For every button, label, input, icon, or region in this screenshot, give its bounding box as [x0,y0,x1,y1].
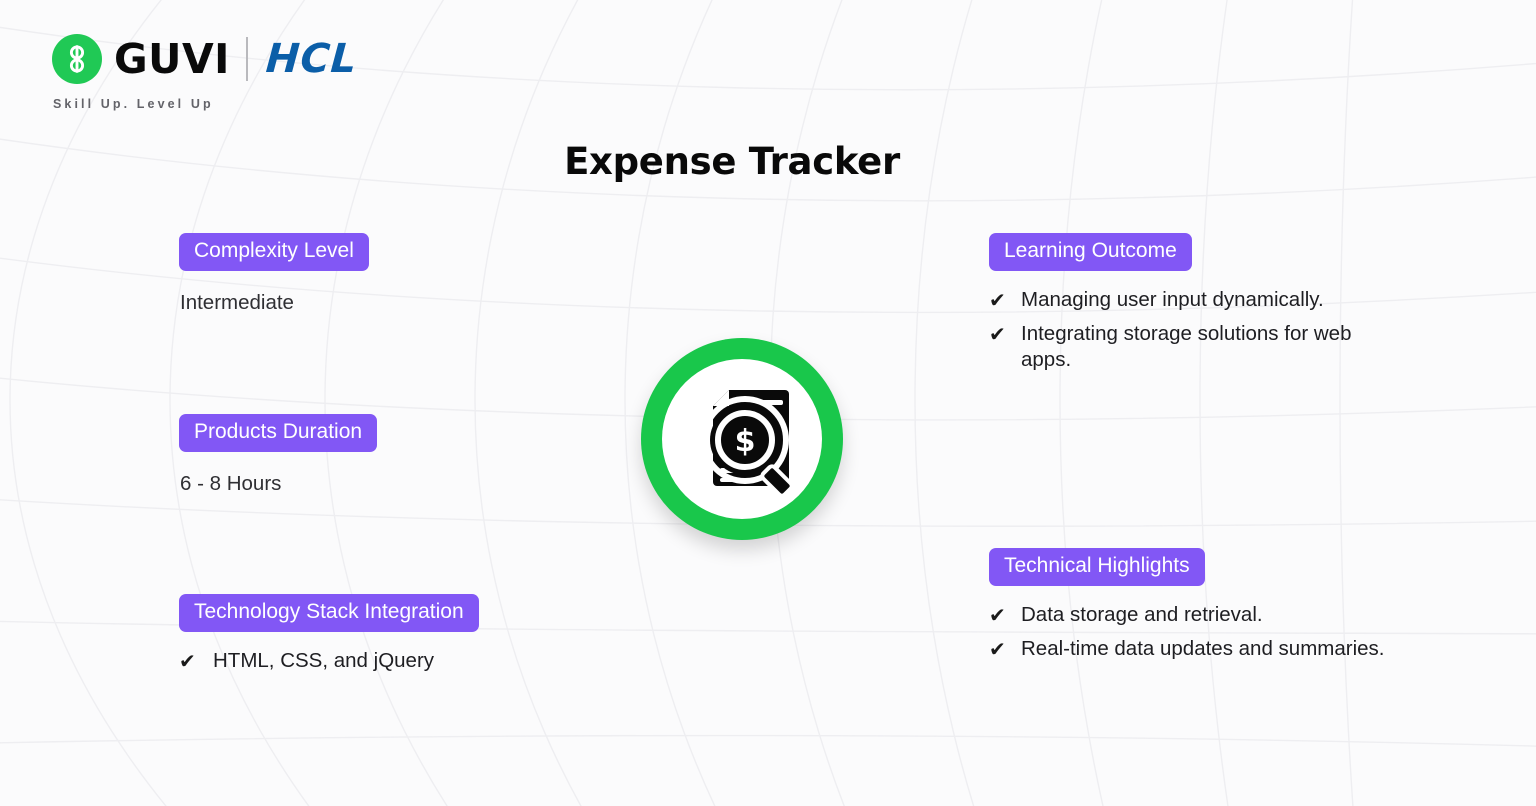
guvi-g-logo-icon [52,34,102,84]
logo-divider [246,37,248,81]
expense-document-magnifier-dollar-icon: $ [641,338,843,540]
list-item: ✔ Data storage and retrieval. [989,602,1419,629]
technology-stack-list: ✔ HTML, CSS, and jQuery [179,648,609,675]
learning-outcome-list: ✔ Managing user input dynamically. ✔ Int… [989,287,1419,374]
list-item-label: Integrating storage solutions for web ap… [1021,321,1386,374]
left-column: Complexity Level Intermediate Products D… [179,233,609,682]
brand-logo-row: GUVI HCL [52,30,357,88]
list-item-label: Managing user input dynamically. [1021,287,1324,314]
spacer [989,381,1419,548]
technical-highlights-section: Technical Highlights ✔ Data storage and … [989,548,1419,662]
list-item-label: Data storage and retrieval. [1021,602,1263,629]
list-item-label: Real-time data updates and summaries. [1021,636,1385,663]
hcl-wordmark: HCL [265,39,359,79]
list-item: ✔ HTML, CSS, and jQuery [179,648,609,675]
check-icon: ✔ [989,602,1011,628]
technology-stack-section: Technology Stack Integration ✔ HTML, CSS… [179,594,609,675]
brand-logo-block: GUVI HCL Skill Up. Level Up [52,30,357,111]
check-icon: ✔ [989,636,1011,662]
right-column: Learning Outcome ✔ Managing user input d… [989,233,1419,669]
technical-highlights-badge: Technical Highlights [989,548,1205,586]
list-item-label: HTML, CSS, and jQuery [213,648,434,675]
spacer [179,315,609,414]
check-icon: ✔ [989,287,1011,313]
ring-inner-circle: $ [662,359,822,519]
list-item: ✔ Integrating storage solutions for web … [989,321,1419,374]
check-icon: ✔ [179,648,201,674]
technical-highlights-list: ✔ Data storage and retrieval. ✔ Real-tim… [989,602,1419,662]
list-item: ✔ Managing user input dynamically. [989,287,1419,314]
svg-text:$: $ [735,424,756,459]
page-title: Expense Tracker [0,140,1464,183]
check-icon: ✔ [989,321,1011,347]
guvi-wordmark: GUVI [114,39,230,80]
products-duration-badge: Products Duration [179,414,377,452]
spacer [179,496,609,594]
complexity-level-value: Intermediate [180,291,609,315]
technology-stack-badge: Technology Stack Integration [179,594,479,632]
learning-outcome-badge: Learning Outcome [989,233,1192,271]
products-duration-value: 6 - 8 Hours [180,472,609,496]
complexity-level-section: Complexity Level Intermediate [179,233,609,315]
list-item: ✔ Real-time data updates and summaries. [989,636,1419,663]
complexity-level-badge: Complexity Level [179,233,369,271]
brand-tagline: Skill Up. Level Up [53,97,357,111]
products-duration-section: Products Duration 6 - 8 Hours [179,414,609,496]
learning-outcome-section: Learning Outcome ✔ Managing user input d… [989,233,1419,374]
